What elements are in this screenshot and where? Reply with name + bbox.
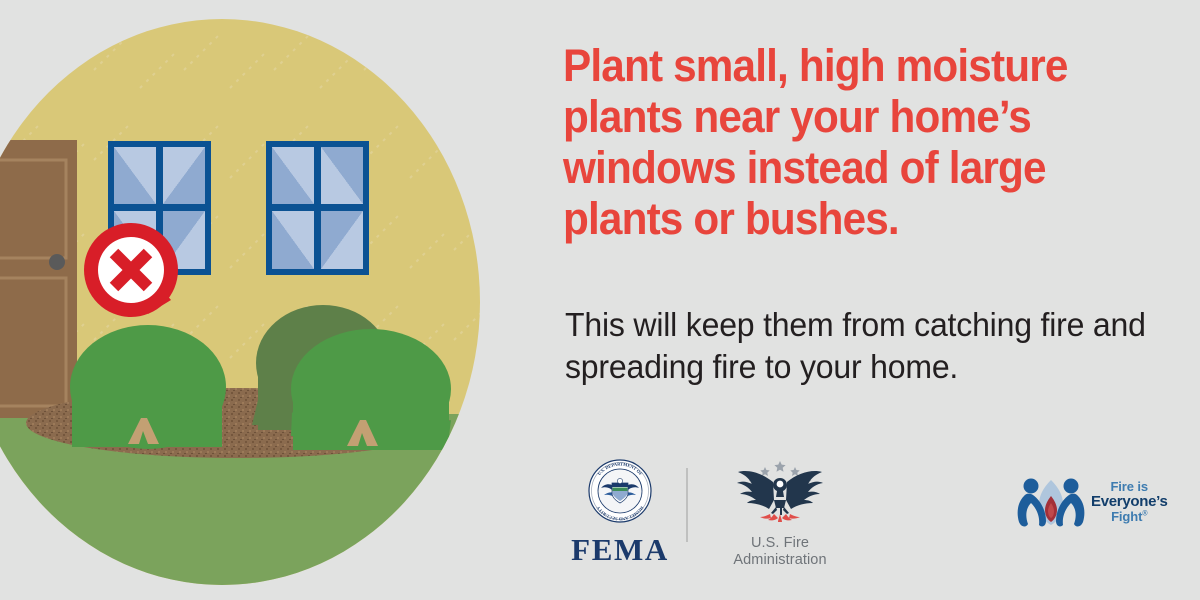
red-x-warning-marker (84, 223, 178, 317)
flame-icon (760, 514, 800, 522)
bush-right (291, 329, 451, 450)
text-column: Plant small, high moisture plants near y… (563, 0, 1200, 600)
logo-strip: U.S. DEPARTMENT OF HOMELAND SECURITY (563, 450, 1200, 580)
fief-line1: Fire is (1091, 480, 1168, 493)
logo-divider (686, 468, 688, 542)
fire-is-everyones-fight-logo: Fire is Everyone’s Fight® (1015, 472, 1200, 540)
fief-trademark: ® (1142, 510, 1147, 517)
figure-left-head (1024, 479, 1039, 494)
usfa-label-line1: U.S. Fire (710, 535, 850, 552)
usfa-logo: U.S. Fire Administration (710, 456, 850, 569)
eagle-body (737, 471, 823, 515)
front-door (0, 140, 77, 418)
house-scene-svg (0, 0, 520, 600)
illustration-panel (0, 0, 520, 600)
bush-left (70, 325, 226, 449)
fief-line2: Everyone’s (1091, 494, 1168, 509)
usfa-label: U.S. Fire Administration (710, 535, 850, 569)
usfa-eagle-emblem (710, 456, 850, 528)
fema-wordmark: FEMA (555, 532, 685, 568)
dhs-seal: U.S. DEPARTMENT OF HOMELAND SECURITY (555, 458, 685, 524)
doorknob (49, 254, 65, 270)
fief-line3: Fight® (1091, 510, 1168, 523)
subline: This will keep them from catching fire a… (565, 304, 1171, 388)
window-right (266, 141, 369, 275)
fief-line3-text: Fight (1111, 509, 1142, 524)
fief-emblem (1015, 472, 1087, 530)
usfa-label-line2: Administration (710, 552, 850, 569)
fief-text: Fire is Everyone’s Fight® (1091, 480, 1168, 523)
figure-right-head (1064, 479, 1079, 494)
fema-logo: U.S. DEPARTMENT OF HOMELAND SECURITY (555, 458, 685, 568)
headline: Plant small, high moisture plants near y… (563, 40, 1127, 244)
scene-clip-group (0, 0, 520, 600)
